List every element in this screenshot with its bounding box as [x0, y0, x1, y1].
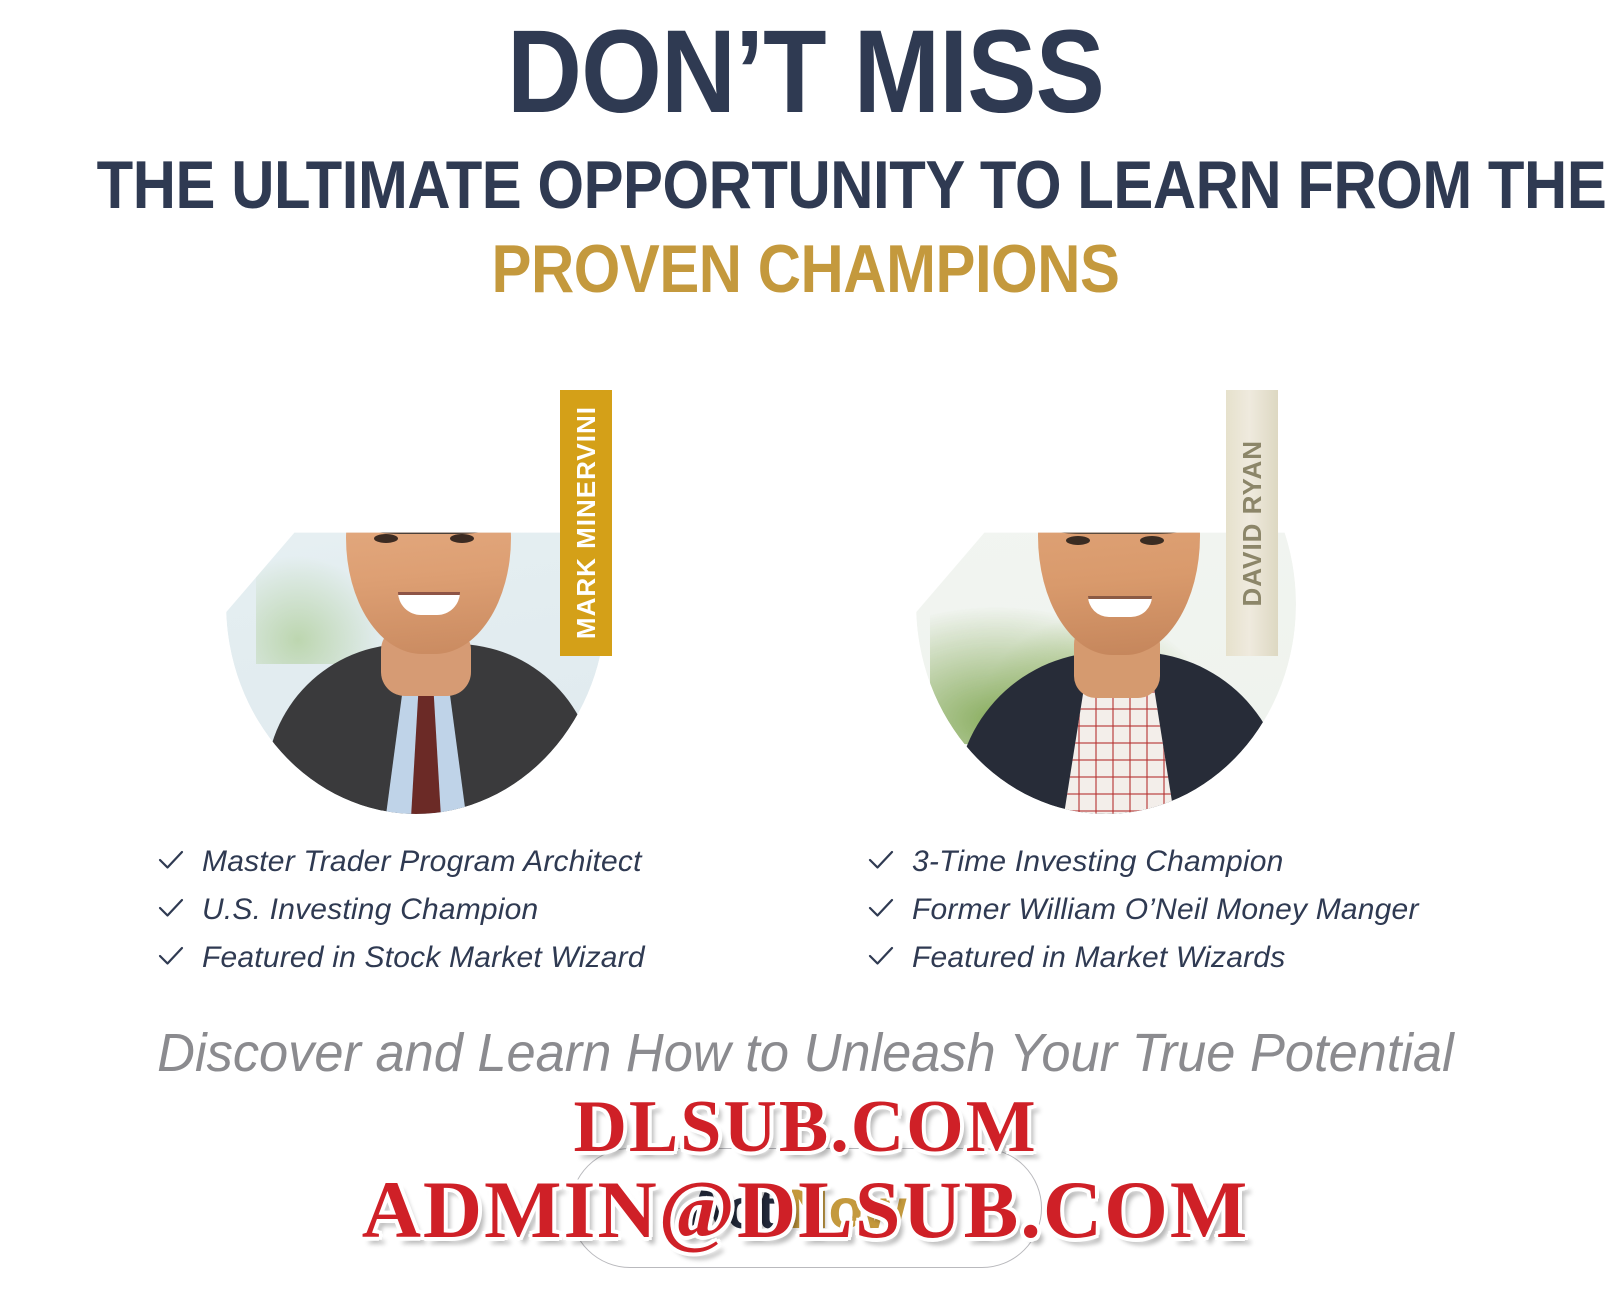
credentials-section: Master Trader Program Architect U.S. Inv… [0, 845, 1611, 975]
tagline: Discover and Learn How to Unleash Your T… [24, 1022, 1587, 1084]
credential-label: Featured in Market Wizards [912, 941, 1285, 975]
watermark-site: DLSUB.COM [573, 1085, 1037, 1170]
list-item: Featured in Stock Market Wizard [158, 941, 645, 989]
speaker-card-mark-minervini: MARK MINERVINI [196, 378, 626, 828]
speaker-name-label: DAVID RYAN [1237, 440, 1268, 607]
check-icon [868, 849, 894, 871]
check-icon [868, 945, 894, 967]
speaker-name-label: MARK MINERVINI [571, 406, 602, 639]
speaker-photo-mark-minervini [206, 384, 606, 814]
check-icon [158, 849, 184, 871]
credential-label: 3-Time Investing Champion [912, 845, 1284, 879]
credentials-list-david-ryan: 3-Time Investing Champion Former William… [868, 845, 1419, 989]
headline-line-1: DON’T MISS [97, 0, 1515, 132]
list-item: Master Trader Program Architect [158, 845, 645, 893]
speaker-card-david-ryan: DAVID RYAN [886, 378, 1316, 828]
promo-poster: DON’T MISS THE ULTIMATE OPPORTUNITY TO L… [0, 0, 1611, 1291]
check-icon [158, 945, 184, 967]
credentials-list-mark-minervini: Master Trader Program Architect U.S. Inv… [158, 845, 645, 989]
check-icon [868, 897, 894, 919]
headline-line-3: PROVEN CHAMPIONS [97, 232, 1515, 306]
list-item: U.S. Investing Champion [158, 893, 645, 941]
headline-line-2: THE ULTIMATE OPPORTUNITY TO LEARN FROM T… [97, 148, 1515, 222]
credential-label: Former William O’Neil Money Manger [912, 893, 1419, 927]
credential-label: Master Trader Program Architect [202, 845, 642, 879]
credential-label: U.S. Investing Champion [202, 893, 538, 927]
speakers-row: MARK MINERVINI [0, 378, 1611, 828]
watermark-email: ADMIN@DLSUB.COM [362, 1163, 1250, 1257]
list-item: Former William O’Neil Money Manger [868, 893, 1419, 941]
credential-label: Featured in Stock Market Wizard [202, 941, 645, 975]
list-item: Featured in Market Wizards [868, 941, 1419, 989]
speaker-name-banner-david-ryan: DAVID RYAN [1226, 390, 1278, 656]
avatar [226, 394, 606, 814]
list-item: 3-Time Investing Champion [868, 845, 1419, 893]
check-icon [158, 897, 184, 919]
headline-block: DON’T MISS THE ULTIMATE OPPORTUNITY TO L… [0, 0, 1611, 306]
speaker-name-banner-mark-minervini: MARK MINERVINI [560, 390, 612, 656]
